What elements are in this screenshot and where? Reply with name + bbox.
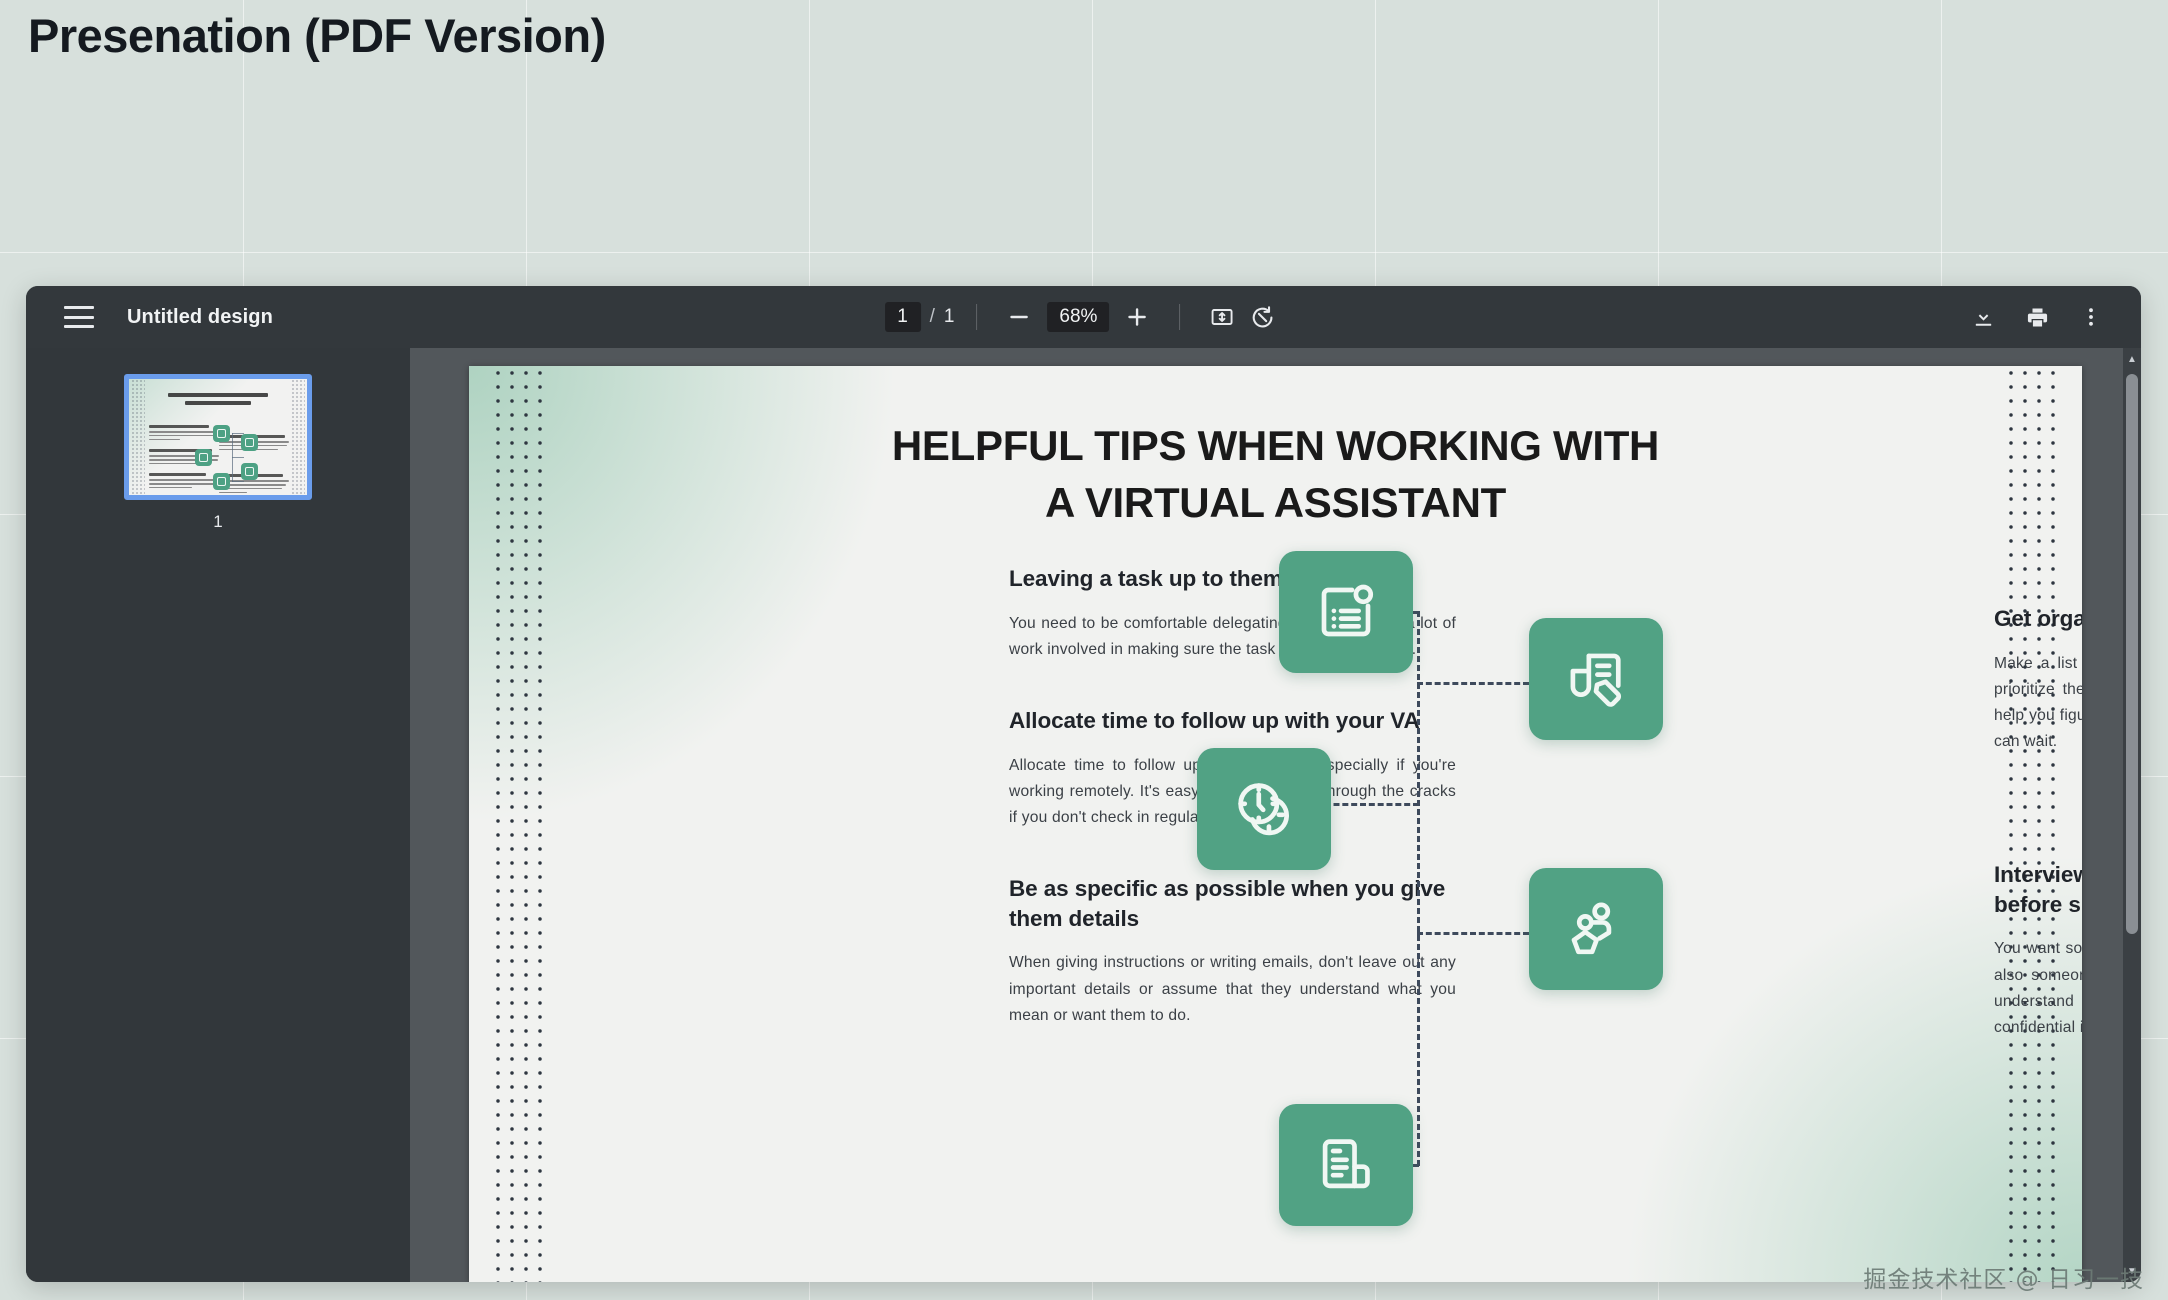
thumbnail-dots-left <box>131 379 145 495</box>
thumbnail-page-1[interactable] <box>124 374 312 500</box>
connector-line <box>1417 611 1420 1166</box>
thumbnail-tile-2 <box>195 449 212 466</box>
content-block-interview-candidates: Interview several prospective candidates… <box>1994 860 2082 1041</box>
thumbnail-tile-1 <box>213 425 230 442</box>
document-article-icon <box>1279 1104 1413 1226</box>
toolbar-left-group: Untitled design <box>26 306 273 329</box>
rotate-counterclockwise-icon[interactable] <box>1242 297 1282 337</box>
pdf-viewer-window: Untitled design 1 / 1 68% <box>26 286 2141 1282</box>
thumbnail-tile-4 <box>241 434 258 451</box>
zoom-out-button[interactable] <box>999 297 1039 337</box>
clock-time-icon <box>1197 748 1331 870</box>
print-icon[interactable] <box>2017 297 2057 337</box>
scroll-up-arrow-icon[interactable]: ▲ <box>2123 350 2141 368</box>
checklist-document-icon <box>1279 551 1413 673</box>
thumbnail-tile-3 <box>213 473 230 490</box>
block-body: You want someone who has experience with… <box>1994 936 2082 1041</box>
thumbnail-title-lines <box>155 393 281 409</box>
toolbar-divider-2 <box>1179 304 1180 330</box>
thumbnail-preview <box>129 379 307 495</box>
thumbnail-connector <box>232 433 244 434</box>
document-canvas: HELPFUL TIPS WHEN WORKING WITH A VIRTUAL… <box>410 348 2141 1282</box>
slide-title-line-1: HELPFUL TIPS WHEN WORKING WITH <box>469 418 2082 475</box>
hamburger-menu-icon[interactable] <box>64 306 94 328</box>
block-heading: Be as specific as possible when you give… <box>1009 874 1456 933</box>
document-scrollbar[interactable]: ▲ ▼ <box>2123 348 2141 1282</box>
page-title: Presenation (PDF Version) <box>28 8 606 63</box>
thumbnail-connector <box>232 457 244 458</box>
zoom-level-input[interactable]: 68% <box>1047 302 1109 332</box>
viewer-toolbar: Untitled design 1 / 1 68% <box>26 286 2141 348</box>
watermark: 掘金技术社区 @ 日习一技 <box>1863 1260 2144 1294</box>
page-total-label: 1 <box>944 306 955 328</box>
viewer-body: 1 HELPFUL TIPS WHEN WORKING WITH A VIRTU… <box>26 348 2141 1282</box>
toolbar-right-group <box>1963 297 2111 337</box>
scrollbar-thumb[interactable] <box>2126 374 2138 934</box>
page-separator: / <box>930 306 935 328</box>
people-group-icon <box>1529 868 1663 990</box>
thumbnail-tile-5 <box>241 463 258 480</box>
fit-to-page-icon[interactable] <box>1202 297 1242 337</box>
content-block-be-specific: Be as specific as possible when you give… <box>1009 874 1456 1029</box>
pdf-page-1: HELPFUL TIPS WHEN WORKING WITH A VIRTUAL… <box>469 366 2082 1282</box>
document-title: Untitled design <box>114 306 273 329</box>
slide-title-line-2: A VIRTUAL ASSISTANT <box>469 475 2082 532</box>
thumbnail-connector <box>232 481 244 482</box>
screenshot-root: Presenation (PDF Version) Untitled desig… <box>0 0 2168 1300</box>
document-tag-icon <box>1529 618 1663 740</box>
page-number-input[interactable]: 1 <box>885 302 921 332</box>
thumbnail-page-number: 1 <box>213 512 222 532</box>
block-heading: Allocate time to follow up with your VA <box>1009 706 1456 736</box>
connector-line <box>1417 932 1529 935</box>
toolbar-divider-1 <box>976 304 977 330</box>
block-heading: Interview several prospective candidates… <box>1994 860 2082 919</box>
toolbar-center-group: 1 / 1 68% <box>885 297 1283 337</box>
content-block-get-organized: Get organized before you start using one… <box>1994 604 2082 755</box>
more-options-icon[interactable] <box>2071 297 2111 337</box>
block-body: Make a list of all of the tasks you need… <box>1994 651 2082 756</box>
block-body: When giving instructions or writing emai… <box>1009 950 1456 1029</box>
thumbnail-sidebar: 1 <box>26 348 410 1282</box>
block-heading: Get organized before you start using one <box>1994 604 2082 634</box>
connector-line <box>1417 682 1529 685</box>
thumbnail-dots-right <box>291 379 305 495</box>
download-icon[interactable] <box>1963 297 2003 337</box>
zoom-in-button[interactable] <box>1117 297 1157 337</box>
slide-title: HELPFUL TIPS WHEN WORKING WITH A VIRTUAL… <box>469 418 2082 531</box>
